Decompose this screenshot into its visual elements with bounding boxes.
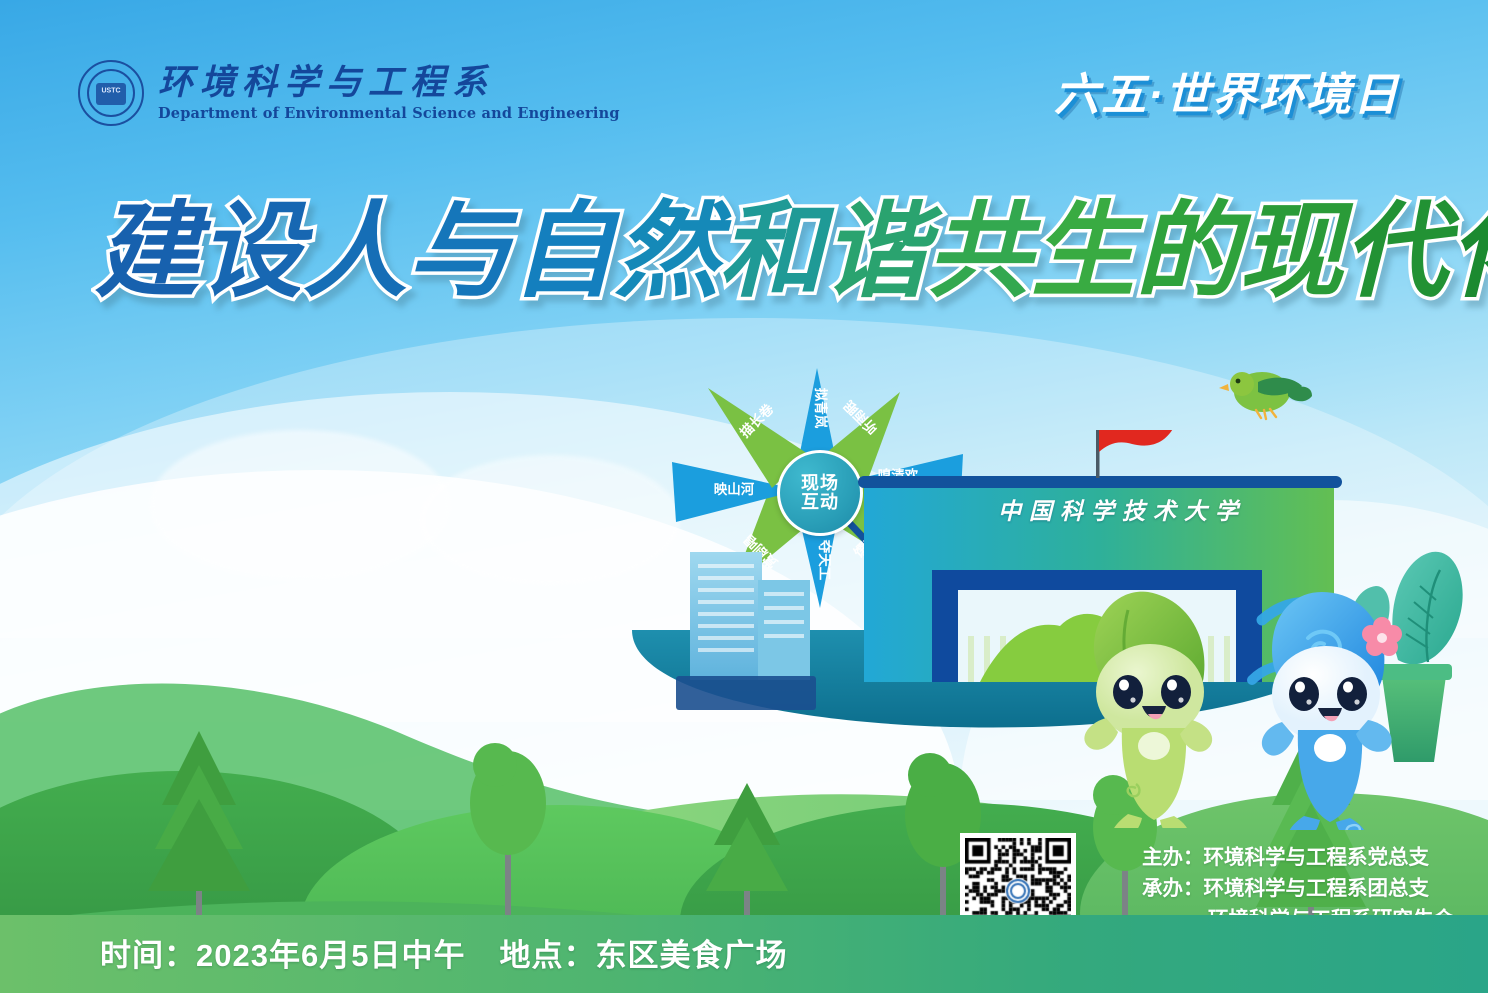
- department-name-cn: 环境科学与工程系: [158, 65, 620, 100]
- credit-line-0: 主办：环境科学与工程系党总支: [1142, 842, 1454, 873]
- department-name-en: Department of Environmental Science and …: [158, 105, 620, 122]
- building-plaque: [676, 676, 816, 710]
- poster-canvas: USTC 环境科学与工程系 Department of Environmenta…: [0, 0, 1488, 993]
- time-label: 时间：: [100, 938, 196, 973]
- place-label: 地点：: [499, 938, 595, 973]
- campus-buildings: [676, 552, 816, 710]
- slogan-char-13: 化: [1447, 199, 1488, 303]
- time-value: 2023年6月5日中午: [196, 938, 465, 973]
- blue-wave-mascot: [1238, 590, 1418, 830]
- slogan-char-1: 设: [199, 199, 303, 303]
- green-bird-icon: [1218, 362, 1314, 424]
- world-environment-day-badge: 六五·世界环境日: [1054, 72, 1400, 117]
- flag-pole: [1096, 430, 1100, 478]
- red-flag-icon: [1099, 430, 1178, 452]
- credit-line-1: 承办：环境科学与工程系团总支: [1142, 873, 1454, 904]
- event-info-text: 时间：2023年6月5日中午地点：东区美食广场: [100, 930, 787, 975]
- slogan-char-0: 建: [95, 199, 199, 303]
- gate-lintel: [858, 476, 1342, 488]
- green-leaf-mascot: [1062, 588, 1242, 828]
- ustc-seal-icon: USTC: [78, 60, 144, 126]
- slogan-char-2: 人: [303, 199, 407, 303]
- slogan-char-10: 的: [1135, 199, 1239, 303]
- place-value: 东区美食广场: [595, 938, 787, 973]
- slogan-char-5: 然: [615, 199, 719, 303]
- gate-name-text: 中国科学技术大学: [872, 492, 1372, 526]
- slogan-char-8: 共: [927, 199, 1031, 303]
- main-slogan: 建设人与自然和谐共生的现代化: [95, 183, 1405, 318]
- blade-label-top: 拟青岚: [813, 388, 829, 429]
- slogan-char-12: 代: [1343, 199, 1447, 303]
- seal-mark: USTC: [101, 87, 120, 94]
- slogan-char-3: 与: [407, 199, 511, 303]
- slogan-char-7: 谐: [823, 199, 927, 303]
- slogan-char-6: 和: [719, 199, 823, 303]
- event-info-bar: 时间：2023年6月5日中午地点：东区美食广场: [0, 915, 1488, 993]
- slogan-char-9: 生: [1031, 199, 1135, 303]
- department-logo: USTC 环境科学与工程系 Department of Environmenta…: [78, 60, 620, 126]
- slogan-char-4: 自: [511, 199, 615, 303]
- slogan-char-11: 现: [1239, 199, 1343, 303]
- cloud-puff-1: [150, 430, 450, 580]
